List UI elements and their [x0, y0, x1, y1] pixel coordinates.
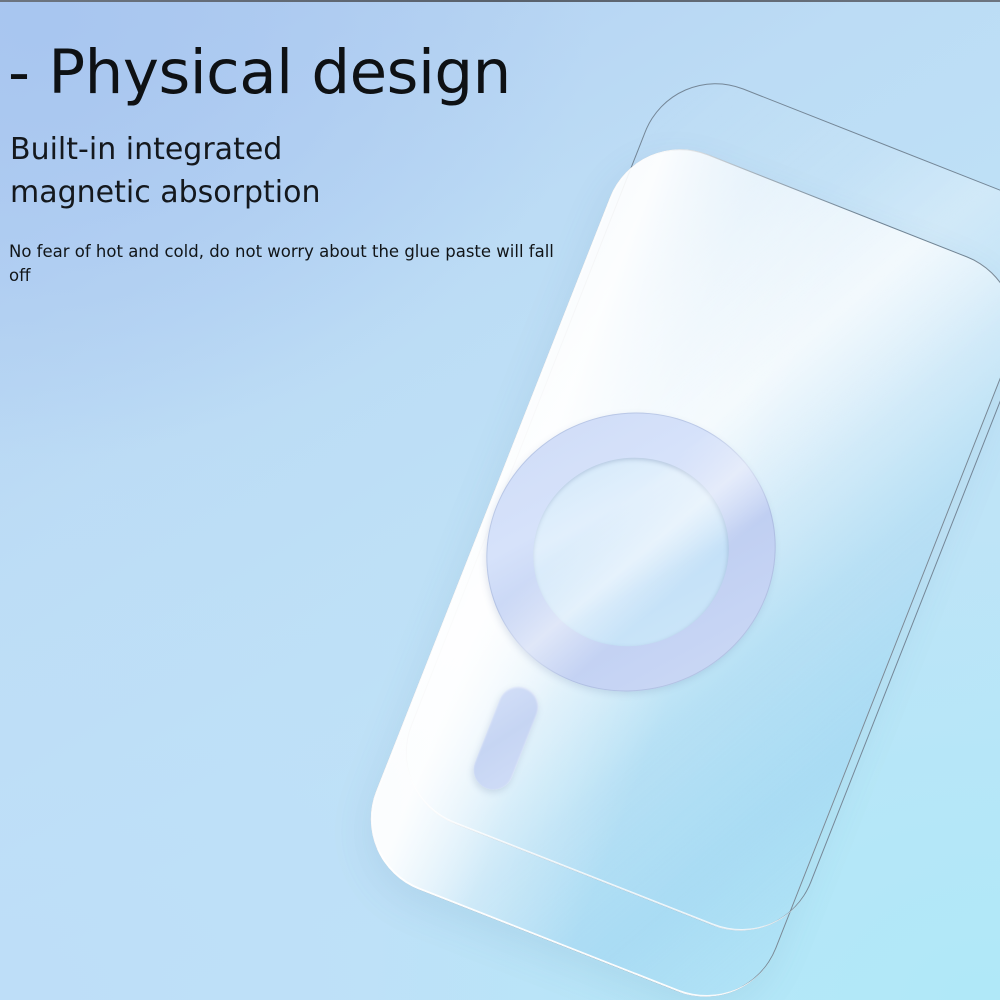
subtitle: Built-in integrated magnetic absorption	[10, 129, 430, 214]
slide-canvas: - Physical design Built-in integrated ma…	[0, 0, 1000, 1000]
magsafe-ring-inner	[502, 429, 760, 674]
caption-text: No fear of hot and cold, do not worry ab…	[9, 240, 554, 287]
copy-block: - Physical design Built-in integrated ma…	[0, 0, 620, 287]
top-border-rule	[0, 0, 1000, 2]
page-title: - Physical design	[8, 42, 620, 103]
